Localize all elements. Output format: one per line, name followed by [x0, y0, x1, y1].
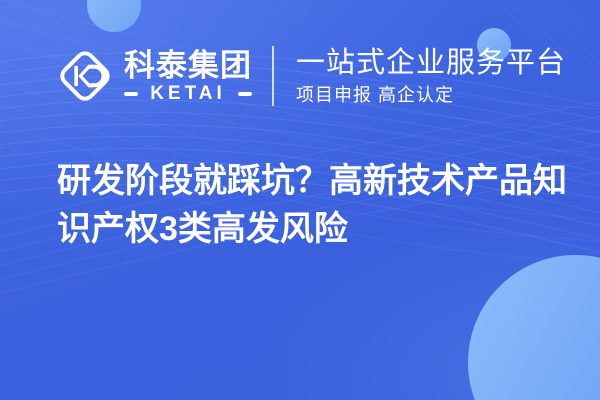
tagline-sub: 项目申报 高企认定 [296, 83, 566, 107]
page-title: 研发阶段就踩坑？高新技术产品知 识产权3类高发风险 [57, 157, 557, 253]
promo-banner: 科泰集团 KETAI 一站式企业服务平台 项目申报 高企认定 研发阶段就踩坑？高… [0, 0, 600, 400]
page-title-line-1: 研发阶段就踩坑？高新技术产品知 [57, 157, 557, 205]
brand-rule-right [238, 92, 252, 96]
brand-name-cn: 科泰集团 [124, 49, 252, 82]
ketai-logo-icon [57, 48, 113, 104]
brand-lockup: 科泰集团 KETAI [57, 48, 252, 104]
banner-header: 科泰集团 KETAI 一站式企业服务平台 项目申报 高企认定 [0, 40, 600, 112]
header-divider [272, 46, 274, 106]
tagline-block: 一站式企业服务平台 项目申报 高企认定 [296, 46, 566, 107]
brand-name-en: KETAI [138, 84, 238, 104]
tagline-main: 一站式企业服务平台 [296, 46, 566, 80]
brand-name-en-row: KETAI [124, 84, 252, 104]
brand-text: 科泰集团 KETAI [124, 49, 252, 104]
page-title-line-2: 识产权3类高发风险 [57, 205, 557, 253]
brand-rule-left [124, 92, 138, 96]
